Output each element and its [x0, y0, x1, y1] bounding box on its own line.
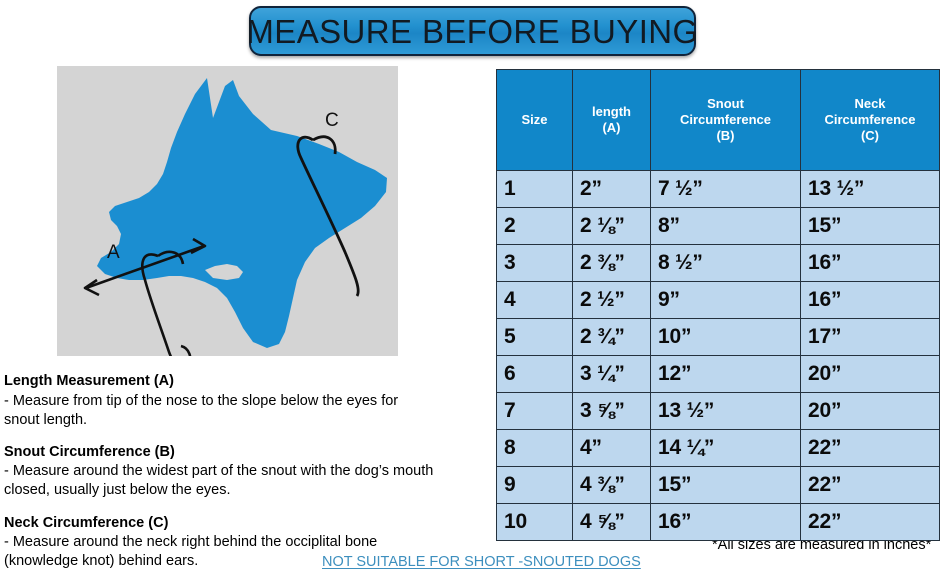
- table-row: 22 ⅛”8”15”: [497, 208, 940, 245]
- cell-snout-circumference: 9”: [651, 282, 801, 319]
- cell-size: 3: [497, 245, 573, 282]
- instruction-group-length: Length Measurement (A) - Measure from ti…: [4, 372, 490, 430]
- table-row: 42 ½”9”16”: [497, 282, 940, 319]
- table-row: 94 ⅜”15”22”: [497, 467, 940, 504]
- cell-length: 3 ¼”: [573, 356, 651, 393]
- cell-length: 4 ⅝”: [573, 504, 651, 541]
- dog-head-silhouette: [97, 78, 387, 348]
- cell-size: 4: [497, 282, 573, 319]
- dog-head-diagram: A B C: [57, 66, 398, 356]
- title-banner: MEASURE BEFORE BUYING: [249, 6, 696, 56]
- cell-snout-circumference: 16”: [651, 504, 801, 541]
- cell-snout-circumference: 8 ½”: [651, 245, 801, 282]
- cell-size: 10: [497, 504, 573, 541]
- table-row: 73 ⅝”13 ½”20”: [497, 393, 940, 430]
- cell-size: 9: [497, 467, 573, 504]
- instruction-heading: Neck Circumference (C): [4, 514, 490, 533]
- cell-neck-circumference: 20”: [801, 356, 940, 393]
- instruction-group-snout: Snout Circumference (B) - Measure around…: [4, 443, 490, 501]
- table-row: 32 ⅜”8 ½”16”: [497, 245, 940, 282]
- instruction-body: - Measure around the widest part of the …: [4, 462, 490, 500]
- cell-length: 2”: [573, 171, 651, 208]
- cell-size: 1: [497, 171, 573, 208]
- cell-length: 2 ½”: [573, 282, 651, 319]
- cell-neck-circumference: 17”: [801, 319, 940, 356]
- cell-length: 2 ¾”: [573, 319, 651, 356]
- table-row: 52 ¾”10”17”: [497, 319, 940, 356]
- dog-illustration-panel: A B C: [57, 66, 398, 356]
- instruction-body: - Measure from tip of the nose to the sl…: [4, 392, 490, 430]
- cell-size: 7: [497, 393, 573, 430]
- cell-neck-circumference: 20”: [801, 393, 940, 430]
- page-title: MEASURE BEFORE BUYING: [246, 15, 698, 48]
- not-suitable-note: NOT SUITABLE FOR SHORT -SNOUTED DOGS: [322, 554, 641, 570]
- instruction-heading: Snout Circumference (B): [4, 443, 490, 462]
- cell-neck-circumference: 16”: [801, 282, 940, 319]
- cell-snout-circumference: 14 ¼”: [651, 430, 801, 467]
- column-header-neck-circumference: Neck Circumference (C): [801, 70, 940, 171]
- column-header-snout-circumference: Snout Circumference (B): [651, 70, 801, 171]
- cell-size: 5: [497, 319, 573, 356]
- measurement-instructions: Length Measurement (A) - Measure from ti…: [4, 372, 490, 584]
- column-header-size: Size: [497, 70, 573, 171]
- column-header-length: length (A): [573, 70, 651, 171]
- cell-neck-circumference: 22”: [801, 430, 940, 467]
- cell-snout-circumference: 7 ½”: [651, 171, 801, 208]
- cell-snout-circumference: 10”: [651, 319, 801, 356]
- cell-size: 6: [497, 356, 573, 393]
- cell-snout-circumference: 13 ½”: [651, 393, 801, 430]
- cell-neck-circumference: 22”: [801, 467, 940, 504]
- table-row: 63 ¼”12”20”: [497, 356, 940, 393]
- cell-snout-circumference: 15”: [651, 467, 801, 504]
- label-c: C: [325, 110, 339, 131]
- cell-snout-circumference: 8”: [651, 208, 801, 245]
- cell-length: 2 ⅛”: [573, 208, 651, 245]
- cell-size: 2: [497, 208, 573, 245]
- instruction-heading: Length Measurement (A): [4, 372, 490, 391]
- cell-size: 8: [497, 430, 573, 467]
- cell-length: 3 ⅝”: [573, 393, 651, 430]
- cell-neck-circumference: 13 ½”: [801, 171, 940, 208]
- cell-length: 2 ⅜”: [573, 245, 651, 282]
- cell-snout-circumference: 12”: [651, 356, 801, 393]
- cell-neck-circumference: 16”: [801, 245, 940, 282]
- cell-length: 4 ⅜”: [573, 467, 651, 504]
- cell-length: 4”: [573, 430, 651, 467]
- table-row: 84”14 ¼”22”: [497, 430, 940, 467]
- table-header-row: Size length (A) Snout Circumference (B) …: [497, 70, 940, 171]
- cell-neck-circumference: 22”: [801, 504, 940, 541]
- table-row: 104 ⅝”16”22”: [497, 504, 940, 541]
- cell-neck-circumference: 15”: [801, 208, 940, 245]
- label-a: A: [107, 242, 120, 263]
- table-row: 12”7 ½”13 ½”: [497, 171, 940, 208]
- size-chart-table: Size length (A) Snout Circumference (B) …: [496, 69, 940, 541]
